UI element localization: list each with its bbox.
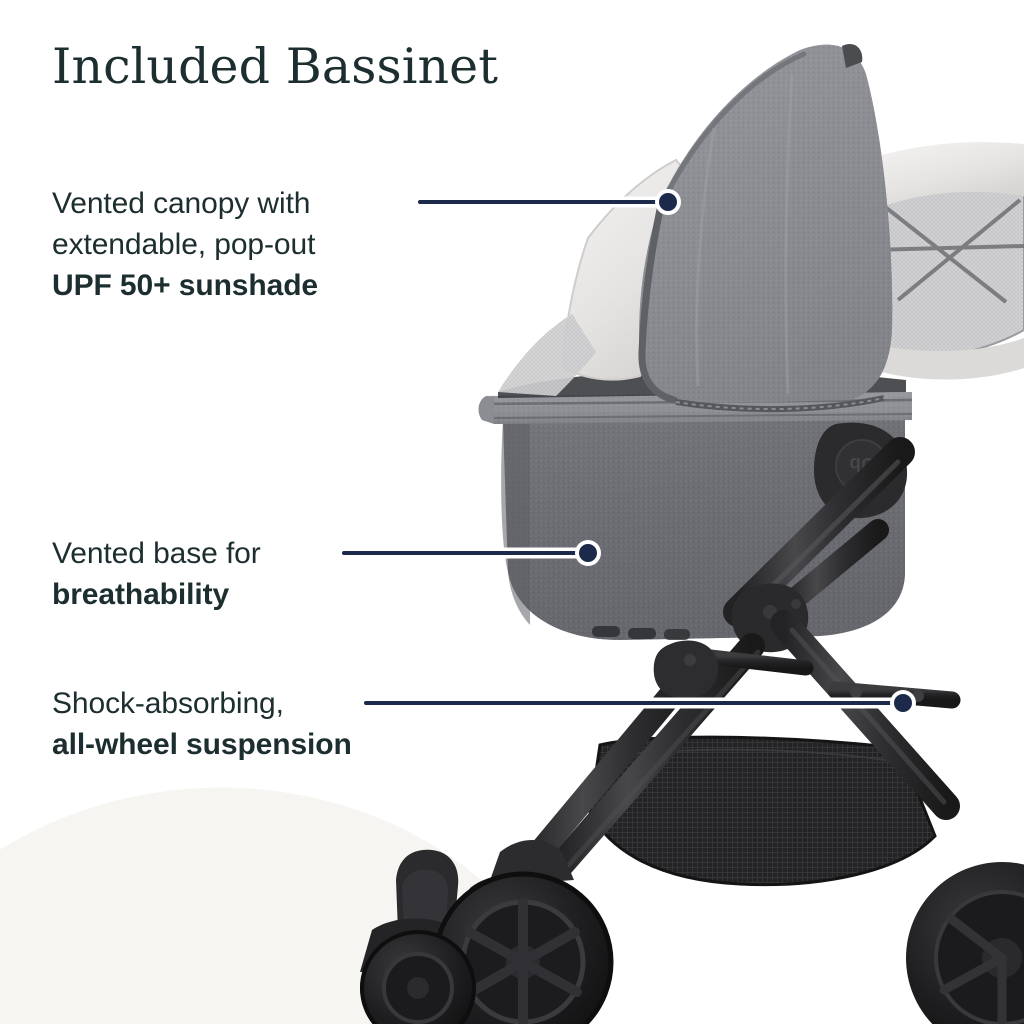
callout-regular-text: Shock-absorbing,	[52, 683, 452, 724]
callout-shock-absorbing: Shock-absorbing, all-wheel suspension	[52, 683, 452, 765]
callout-regular-text: Vented base for	[52, 533, 382, 574]
callout-regular-text: Vented canopy with extendable, pop-out	[52, 183, 442, 265]
product-illustration: Ub	[0, 0, 1024, 1024]
callout-vented-base: Vented base for breathability	[52, 533, 382, 615]
callout-bold-text: all-wheel suspension	[52, 724, 452, 765]
frame-joint-mid	[654, 640, 718, 698]
canopy	[498, 44, 1024, 409]
callout-bold-text: UPF 50+ sunshade	[52, 265, 442, 306]
callout-bold-text: breathability	[52, 574, 382, 615]
rear-wheel	[906, 862, 1024, 1024]
page-title: Included Bassinet	[52, 38, 498, 95]
infographic-page: Ub	[0, 0, 1024, 1024]
callout-vented-canopy: Vented canopy with extendable, pop-out U…	[52, 183, 442, 306]
